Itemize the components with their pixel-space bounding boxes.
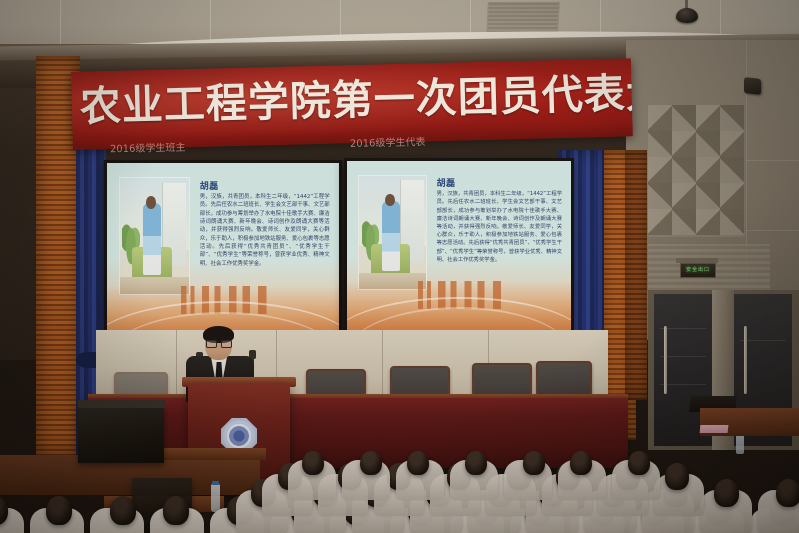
audience-head: [407, 451, 429, 476]
slide-body-right: 男，汉族，共青团员，本科生二年级，“1442”工程学员。先后任农水二班班长、学生…: [437, 190, 562, 264]
acoustic-triangle-cell: [672, 131, 696, 157]
slide-title-right: 胡磊: [437, 176, 456, 189]
projection-screen-left: 胡磊 男，汉族，共青团员，本科生二年级，“1442”工程学员。先后任农水二班班长…: [104, 160, 342, 341]
door-handle-left[interactable]: [664, 326, 667, 394]
acoustic-triangle-cell: [672, 157, 696, 183]
exit-sign: 安全出口: [680, 263, 716, 278]
audience-head: [776, 479, 799, 507]
audience-head: [714, 479, 739, 507]
dome-camera-icon: [676, 8, 698, 23]
wood-slat-column-far-right: [625, 150, 647, 400]
audience-area: [0, 430, 799, 533]
acoustic-triangle-cell: [696, 183, 720, 209]
acoustic-triangle-cell: [696, 105, 720, 131]
acoustic-triangle-cell: [648, 209, 672, 235]
slide-portrait-photo-left: [119, 177, 191, 295]
glasses-icon: [206, 340, 231, 346]
door-handle-right[interactable]: [744, 326, 747, 394]
auditorium-photo: 安全出口 胡磊 男，汉族，共: [0, 0, 799, 533]
acoustic-triangle-cell: [672, 105, 696, 131]
audience-head: [46, 496, 72, 525]
audience-head: [465, 451, 487, 476]
audience-head: [302, 451, 324, 476]
acoustic-triangle-cell: [720, 183, 744, 209]
slide-portrait-photo-right: [358, 175, 427, 291]
slide-body-left: 男，汉族，共青团员，本科生二年级，“1442”工程学员。先后任农水二班班长、学生…: [200, 193, 330, 268]
wall-speaker-icon: [744, 77, 761, 95]
acoustic-triangle-cell: [672, 183, 696, 209]
acoustic-triangle-cell: [648, 131, 672, 157]
pa-speaker-box-left-top: [78, 400, 166, 408]
acoustic-triangle-cell: [720, 105, 744, 131]
audience-head: [163, 496, 189, 525]
acoustic-triangle-panel: [648, 105, 745, 237]
acoustic-triangle-cell: [696, 131, 720, 157]
audience-head: [110, 496, 136, 525]
audience-head: [665, 463, 689, 490]
acoustic-triangle-cell: [696, 157, 720, 183]
ceiling-vent-grille: [486, 2, 560, 34]
banner-subline-left: 2016级学生班主: [110, 139, 186, 156]
acoustic-triangle-cell: [648, 157, 672, 183]
exit-sign-label: 安全出口: [686, 268, 710, 273]
projection-screen-right: 胡磊 男，汉族，共青团员，本科生二年级，“1442”工程学员。先后任农水二班班长…: [344, 158, 574, 336]
audience-head: [570, 451, 592, 476]
acoustic-triangle-cell: [648, 183, 672, 209]
acoustic-triangle-cell: [720, 209, 744, 235]
acoustic-triangle-cell: [720, 157, 744, 183]
audience-head: [523, 451, 545, 476]
audience-head: [360, 451, 382, 476]
acoustic-triangle-cell: [696, 209, 720, 235]
audience-head: [628, 451, 650, 476]
acoustic-triangle-cell: [648, 105, 672, 131]
acoustic-triangle-cell: [720, 131, 744, 157]
banner-subline-right: 2016级学生代表: [350, 133, 426, 150]
slide-title-left: 胡磊: [200, 179, 219, 192]
acoustic-triangle-cell: [672, 209, 696, 235]
